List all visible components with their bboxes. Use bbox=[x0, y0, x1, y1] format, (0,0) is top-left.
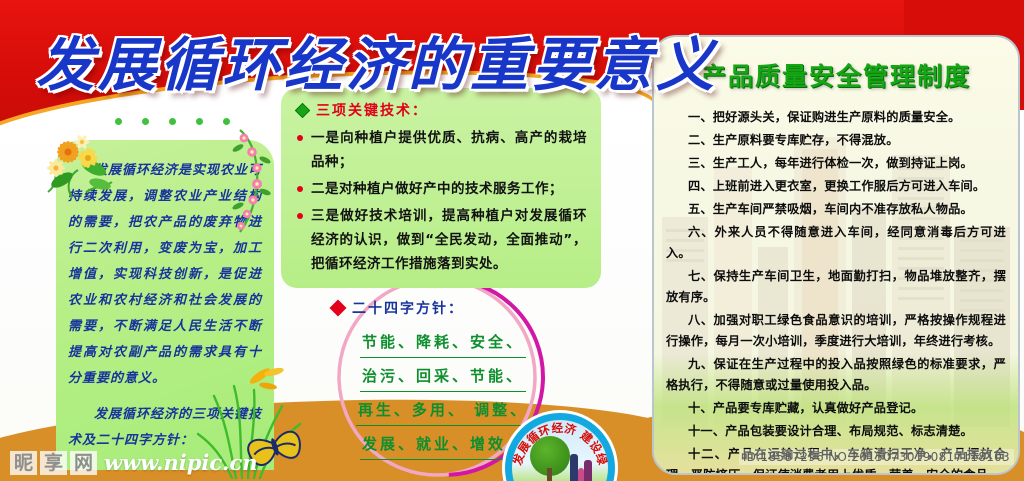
decorative-dots bbox=[115, 118, 230, 125]
right-panel-body: 一、把好源头关，保证购进生产原料的质量安全。 二、生产原料要专库贮存，不得混放。… bbox=[654, 93, 1018, 475]
rule-item: 七、保持生产车间卫生，地面勤打扫，物品堆放整齐，摆放有序。 bbox=[666, 266, 1006, 308]
rule-item: 十、产品要专库贮藏，认真做好产品登记。 bbox=[666, 398, 1006, 419]
blossom-vine-icon bbox=[232, 126, 276, 236]
site-watermark: 昵 享 网 www.nipic.cn bbox=[10, 450, 258, 475]
diamond-green-icon bbox=[295, 102, 311, 118]
svg-text:发展循环经济 建设绿色家园: 发展循环经济 建设绿色家园 bbox=[505, 413, 610, 468]
rule-item: 二、生产原料要专库贮存，不得混放。 bbox=[666, 130, 1006, 151]
site-watermark-chinese: 昵 享 网 bbox=[10, 451, 97, 475]
eco-badge: 发展循环经济 建设绿色家园 bbox=[505, 413, 615, 481]
flower-bouquet-icon bbox=[42, 128, 128, 202]
list-item: 二是对种植户做好产中的技术服务工作； bbox=[297, 177, 587, 201]
policy-line: 发展、就业、增效。 bbox=[360, 430, 526, 460]
watermark-char-3: 网 bbox=[70, 451, 97, 475]
id-watermark: ID:18587296 NO:20150730190817118103 bbox=[739, 449, 1014, 465]
center-card-list: 一是向种植户提供优质、抗病、高产的栽培品种； 二是对种植户做好产中的技术服务工作… bbox=[281, 126, 601, 276]
list-item: 一是向种植户提供优质、抗病、高产的栽培品种； bbox=[297, 126, 587, 174]
rule-item: 三、生产工人，每年进行体检一次，做到持证上岗。 bbox=[666, 153, 1006, 174]
rule-item: 五、生产车间严禁吸烟，车间内不准存放私人物品。 bbox=[666, 199, 1006, 220]
rule-item: 一、把好源头关，保证购进生产原料的质量安全。 bbox=[666, 107, 1006, 128]
watermark-char-1: 昵 bbox=[10, 451, 37, 475]
rule-item: 十一、产品包装要设计合理、布局规范、标志清楚。 bbox=[666, 421, 1006, 442]
watermark-char-2: 享 bbox=[40, 451, 67, 475]
site-watermark-url: www.nipic.cn bbox=[104, 450, 258, 475]
rule-item: 九、保证在生产过程中的投入品按照绿色的标准要求，严格执行，不得随意或过量使用投入… bbox=[666, 354, 1006, 396]
policy-line: 再生、多用、 调整、 bbox=[356, 396, 530, 426]
poster-canvas: 发展循环经济的重要意义 发展循环经济是实现农业可持续发展，调整农业产业结构的需要… bbox=[0, 0, 1024, 481]
rule-item: 八、加强对职工绿色食品意识的培训，严格按操作规程进行操作，每月一次小培训，季度进… bbox=[666, 310, 1006, 352]
diamond-red-icon bbox=[330, 300, 347, 317]
right-panel: 产品质量安全管理制度 一、把好源头关，保证购进生产原料的质量安全。 二、生产原料… bbox=[652, 35, 1020, 475]
policy-line: 节能、降耗、安全、 bbox=[360, 328, 526, 358]
eco-badge-text: 发展循环经济 建设绿色家园 bbox=[505, 413, 615, 481]
policy-heading: 二十四字方针： bbox=[332, 298, 568, 318]
policy-line: 治污、回采、节能、 bbox=[360, 362, 526, 392]
page-title: 发展循环经济的重要意义 bbox=[36, 26, 636, 104]
center-green-card: 三项关键技术： 一是向种植户提供优质、抗病、高产的栽培品种； 二是对种植户做好产… bbox=[281, 88, 601, 288]
policy-heading-label: 二十四字方针： bbox=[352, 298, 464, 318]
rule-item: 四、上班前进入更衣室，更换工作服后方可进入车间。 bbox=[666, 176, 1006, 197]
rule-item: 六、外来人员不得随意进入车间，经同意消毒后方可进入。 bbox=[666, 222, 1006, 264]
list-item: 三是做好技术培训，提高种植户对发展循环经济的认识，做到“全民发动，全面推动”，把… bbox=[297, 204, 587, 276]
